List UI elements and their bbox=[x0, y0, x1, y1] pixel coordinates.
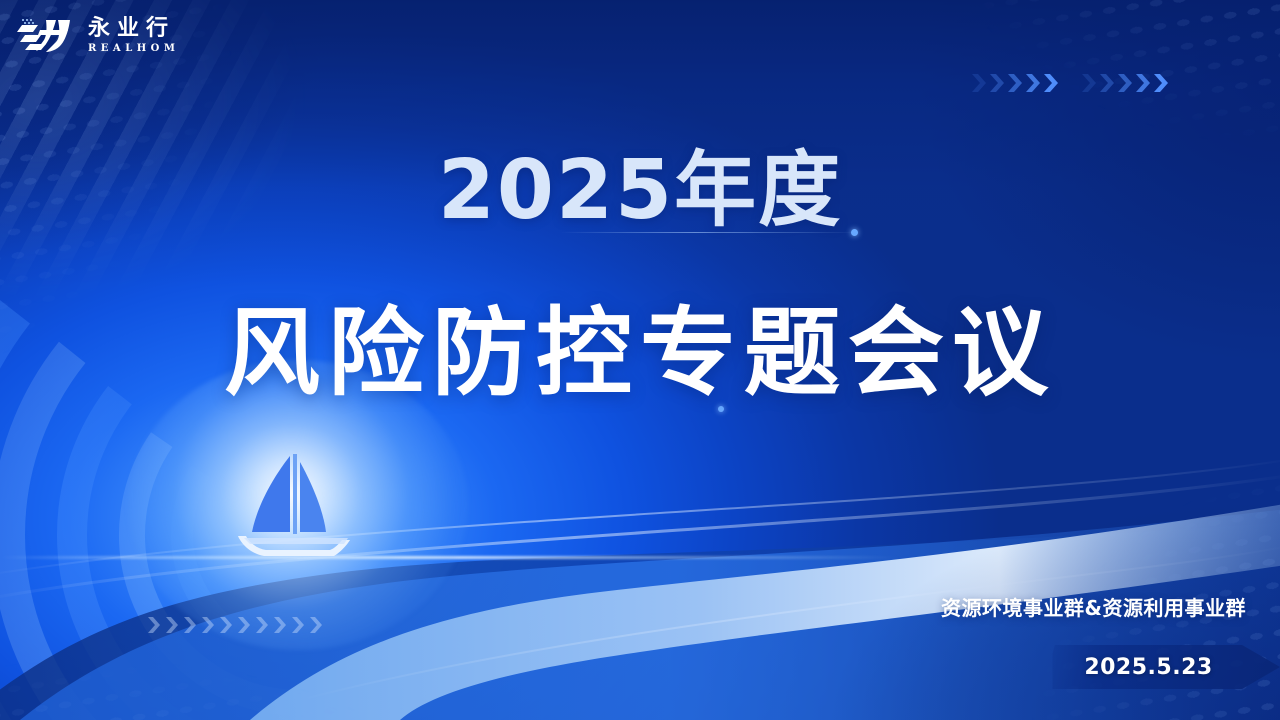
sailboat-icon bbox=[230, 440, 360, 565]
chevron-group-top-right-1 bbox=[1080, 70, 1180, 96]
organization-label: 资源环境事业群&资源利用事业群 bbox=[941, 592, 1246, 621]
yh-monogram-icon bbox=[16, 16, 78, 54]
company-logo: 永业行 REALHOM bbox=[16, 16, 179, 54]
logo-company-name-cn: 永业行 bbox=[88, 17, 179, 39]
chevron-group-top-right-2 bbox=[970, 70, 1070, 96]
chevron-right-icon bbox=[1080, 70, 1180, 96]
chevron-right-icon bbox=[146, 613, 346, 637]
date-label: 2025.5.23 bbox=[1084, 655, 1212, 680]
date-badge: 2025.5.23 bbox=[1043, 645, 1280, 689]
chevron-right-icon bbox=[970, 70, 1070, 96]
page-title-year: 2025年度 bbox=[0, 123, 1280, 242]
page-title-main: 风险防控专题会议 bbox=[0, 275, 1280, 414]
title-slide: 永业行 REALHOM bbox=[0, 0, 1280, 720]
chevron-group-bottom-left bbox=[146, 613, 346, 637]
logo-company-name-en: REALHOM bbox=[88, 44, 179, 54]
